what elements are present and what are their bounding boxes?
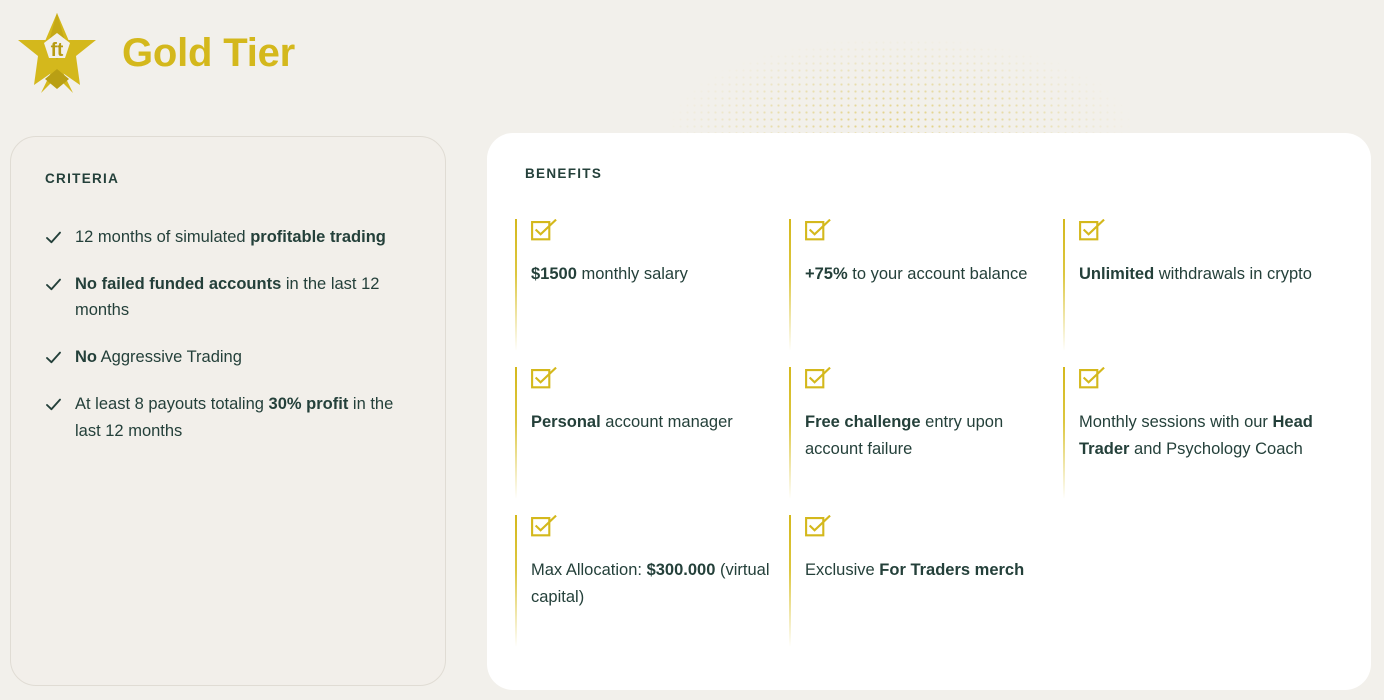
criteria-item: No Aggressive Trading bbox=[45, 344, 415, 371]
star-ft-logo-icon: ft bbox=[18, 11, 96, 95]
benefit-item-text: Free challenge entry upon account failur… bbox=[805, 413, 1003, 458]
benefit-item: Monthly sessions with our Head Trader an… bbox=[1063, 367, 1337, 515]
check-icon bbox=[45, 349, 62, 366]
checkbox-checked-icon bbox=[1079, 367, 1105, 391]
checkbox-checked-icon bbox=[531, 367, 557, 391]
benefit-item-text: Monthly sessions with our Head Trader an… bbox=[1079, 413, 1313, 458]
page-title: Gold Tier bbox=[122, 33, 295, 73]
benefit-item: Max Allocation: $300.000 (virtual capita… bbox=[515, 515, 789, 663]
benefit-item: Exclusive For Traders merch bbox=[789, 515, 1063, 663]
checkbox-checked-icon bbox=[805, 515, 831, 539]
check-icon bbox=[45, 276, 62, 293]
benefit-item-text: $1500 monthly salary bbox=[531, 265, 688, 283]
check-icon bbox=[45, 229, 62, 246]
criteria-item: At least 8 payouts totaling 30% profit i… bbox=[45, 391, 415, 444]
svg-text:ft: ft bbox=[51, 40, 64, 61]
criteria-item: No failed funded accounts in the last 12… bbox=[45, 271, 415, 324]
benefit-item: Free challenge entry upon account failur… bbox=[789, 367, 1063, 515]
benefits-card: BENEFITS $1500 monthly salary+75% to you… bbox=[487, 133, 1371, 690]
check-icon bbox=[45, 396, 62, 413]
benefit-item-text: Unlimited withdrawals in crypto bbox=[1079, 265, 1312, 283]
criteria-item-text: No Aggressive Trading bbox=[75, 344, 242, 371]
checkbox-checked-icon bbox=[1079, 219, 1105, 243]
checkbox-checked-icon bbox=[531, 515, 557, 539]
criteria-list: 12 months of simulated profitable tradin… bbox=[45, 224, 415, 444]
criteria-item-text: No failed funded accounts in the last 12… bbox=[75, 271, 415, 324]
criteria-item: 12 months of simulated profitable tradin… bbox=[45, 224, 415, 251]
criteria-item-text: At least 8 payouts totaling 30% profit i… bbox=[75, 391, 415, 444]
checkbox-checked-icon bbox=[805, 367, 831, 391]
benefit-item: $1500 monthly salary bbox=[515, 219, 789, 367]
benefit-item: +75% to your account balance bbox=[789, 219, 1063, 367]
criteria-section-label: CRITERIA bbox=[45, 171, 415, 186]
criteria-item-text: 12 months of simulated profitable tradin… bbox=[75, 224, 386, 251]
benefit-item-text: Personal account manager bbox=[531, 413, 733, 431]
benefit-item-text: Exclusive For Traders merch bbox=[805, 561, 1024, 579]
benefit-item-text: +75% to your account balance bbox=[805, 265, 1027, 283]
benefit-item-text: Max Allocation: $300.000 (virtual capita… bbox=[531, 561, 769, 606]
checkbox-checked-icon bbox=[531, 219, 557, 243]
background-dot-pattern bbox=[600, 0, 1384, 140]
criteria-card: CRITERIA 12 months of simulated profitab… bbox=[10, 136, 446, 686]
benefits-section-label: BENEFITS bbox=[525, 166, 1371, 181]
checkbox-checked-icon bbox=[805, 219, 831, 243]
benefit-item: Personal account manager bbox=[515, 367, 789, 515]
page-header: ft Gold Tier bbox=[18, 10, 295, 96]
benefits-grid: $1500 monthly salary+75% to your account… bbox=[515, 219, 1371, 663]
benefit-item: Unlimited withdrawals in crypto bbox=[1063, 219, 1337, 367]
